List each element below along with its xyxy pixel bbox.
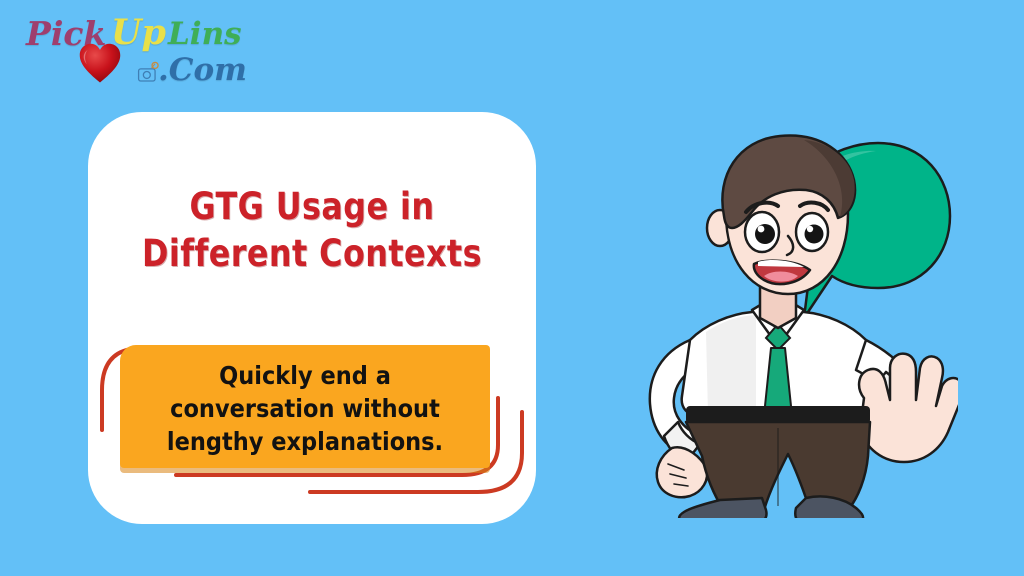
callout-line-2: conversation without [139,392,472,425]
page-title-line-2: Different Contexts [119,230,504,277]
callout-line-3: lengthy explanations. [139,425,472,458]
heart-icon [78,42,122,86]
poster-canvas: Pick Up Lins .Com GTG Usage in Differ [0,0,1024,576]
cartoon-man-illustration [628,118,958,518]
logo-word-lins: Lins [168,16,242,52]
callout-line-1: Quickly end a [139,359,472,392]
page-title-line-1: GTG Usage in [119,183,504,230]
page-title: GTG Usage in Different Contexts [119,183,504,277]
callout-text: Quickly end a conversation without lengt… [139,359,472,458]
camera-icon [136,61,162,85]
waving-hand-icon [859,354,958,462]
site-logo[interactable]: Pick Up Lins .Com [18,6,248,98]
logo-word-com: .Com [158,52,247,88]
